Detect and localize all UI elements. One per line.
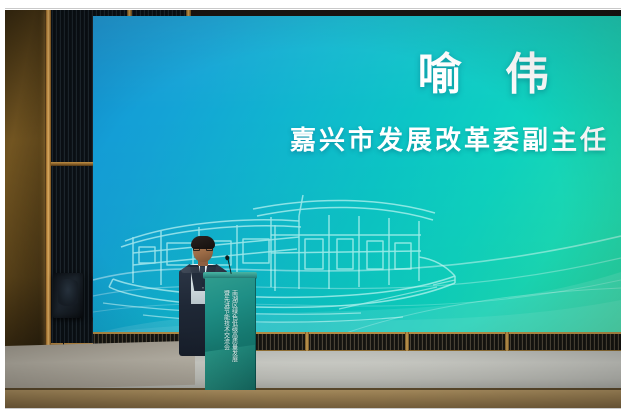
podium-sign-line-2: 暨先进节能技术交流会 (223, 290, 230, 386)
podium-front-panel: 南湖区绿色低碳高质量发展 暨先进节能技术交流会 (205, 278, 255, 390)
podium-event-sign: 南湖区绿色低碳高质量发展 暨先进节能技术交流会 (211, 290, 249, 386)
led-backdrop-screen: 喻 伟 嘉兴市发展改革委副主任 (93, 16, 621, 334)
frame-matte-left (0, 0, 5, 420)
wall-speaker-black-icon (53, 273, 83, 318)
baseboard-divider (405, 332, 409, 352)
screen-speaker-name: 喻 伟 (418, 38, 563, 102)
frame-matte-bottom (0, 408, 625, 420)
screen-speaker-title: 嘉兴市发展改革委副主任 (290, 120, 609, 157)
wall-panel-left (5, 10, 47, 380)
stage-scene: 喻 伟 嘉兴市发展改革委副主任 (5, 10, 621, 408)
photo-frame: 喻 伟 嘉兴市发展改革委副主任 (0, 0, 625, 420)
nanhu-red-boat-illustration (103, 191, 463, 326)
eyeglasses-icon (193, 247, 213, 251)
baseboard-divider (305, 332, 309, 352)
podium: 南湖区绿色低碳高质量发展 暨先进节能技术交流会 (205, 272, 255, 392)
baseboard-divider (505, 332, 509, 352)
podium-sign-line-1: 南湖区绿色低碳高质量发展 (231, 290, 238, 386)
frame-matte-right (621, 0, 625, 420)
stage-floor-left (5, 341, 195, 390)
stage-front-edge (5, 388, 621, 408)
frame-matte-top (0, 0, 625, 9)
